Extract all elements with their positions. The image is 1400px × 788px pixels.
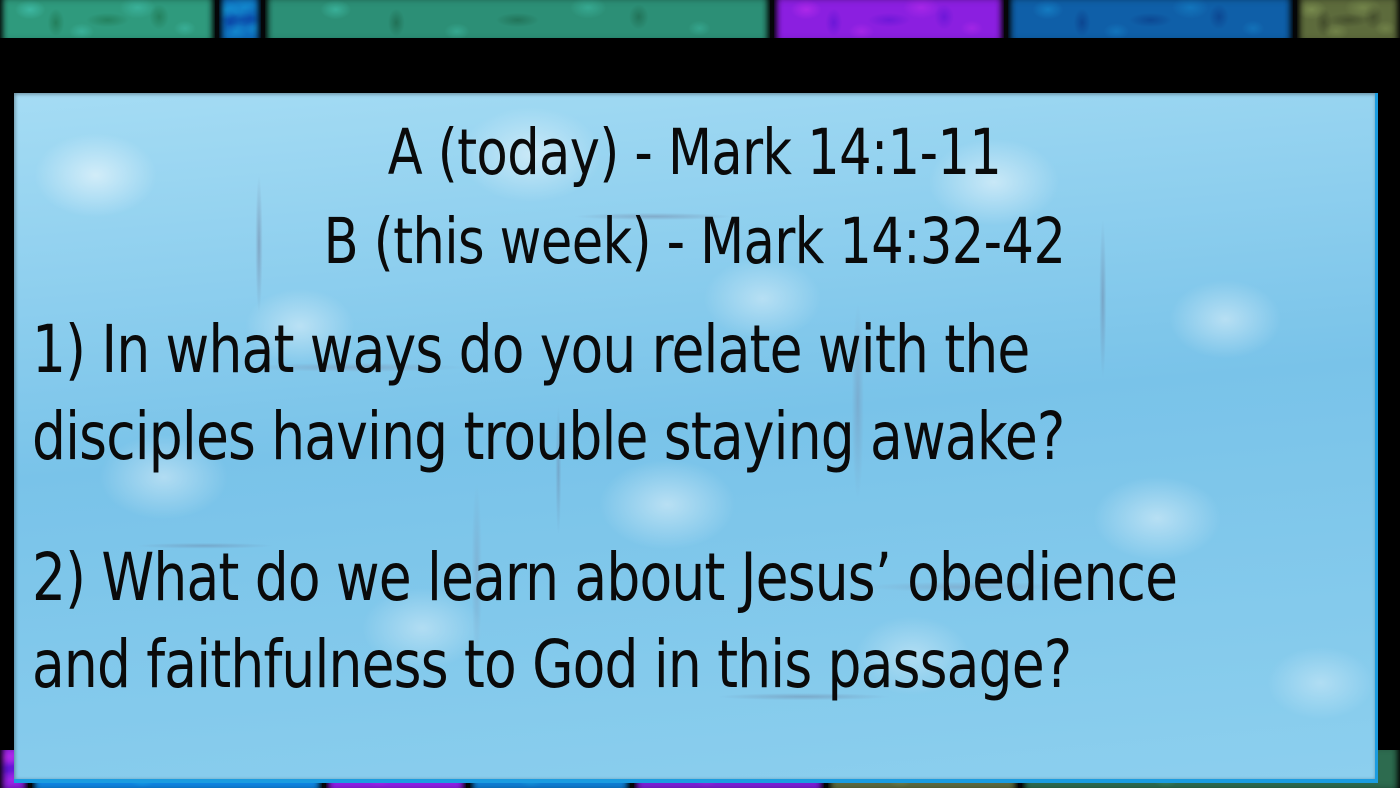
glass-pane (265, 0, 770, 40)
question-2-line-2: and faithfulness to God in this passage? (32, 621, 1328, 708)
glass-pane (1008, 0, 1293, 40)
passage-reference-heading: A (today) - Mark 14:1-11 B (this week) -… (82, 108, 1307, 287)
question-1-line-1: 1) In what ways do you relate with the (32, 306, 1328, 393)
discussion-question-1: 1) In what ways do you relate with the d… (32, 306, 1328, 480)
discussion-question-2: 2) What do we learn about Jesus’ obedien… (32, 534, 1328, 708)
passage-reference-line-a: A (today) - Mark 14:1-11 (82, 108, 1307, 197)
question-2-line-1: 2) What do we learn about Jesus’ obedien… (32, 534, 1328, 621)
discussion-questions-list: 1) In what ways do you relate with the d… (32, 306, 1329, 708)
slide-canvas: A (today) - Mark 14:1-11 B (this week) -… (0, 0, 1400, 788)
glass-pane (219, 0, 261, 40)
glass-pane (0, 0, 215, 40)
slide-frame: A (today) - Mark 14:1-11 B (this week) -… (0, 38, 1400, 750)
slide-content: A (today) - Mark 14:1-11 B (this week) -… (14, 93, 1375, 779)
content-panel: A (today) - Mark 14:1-11 B (this week) -… (14, 93, 1378, 783)
question-1-line-2: disciples having trouble staying awake? (32, 393, 1328, 480)
glass-pane (774, 0, 1004, 40)
glass-pane (1297, 0, 1400, 40)
stained-glass-top-border (0, 0, 1400, 40)
passage-reference-line-b: B (this week) - Mark 14:32-42 (82, 197, 1307, 286)
